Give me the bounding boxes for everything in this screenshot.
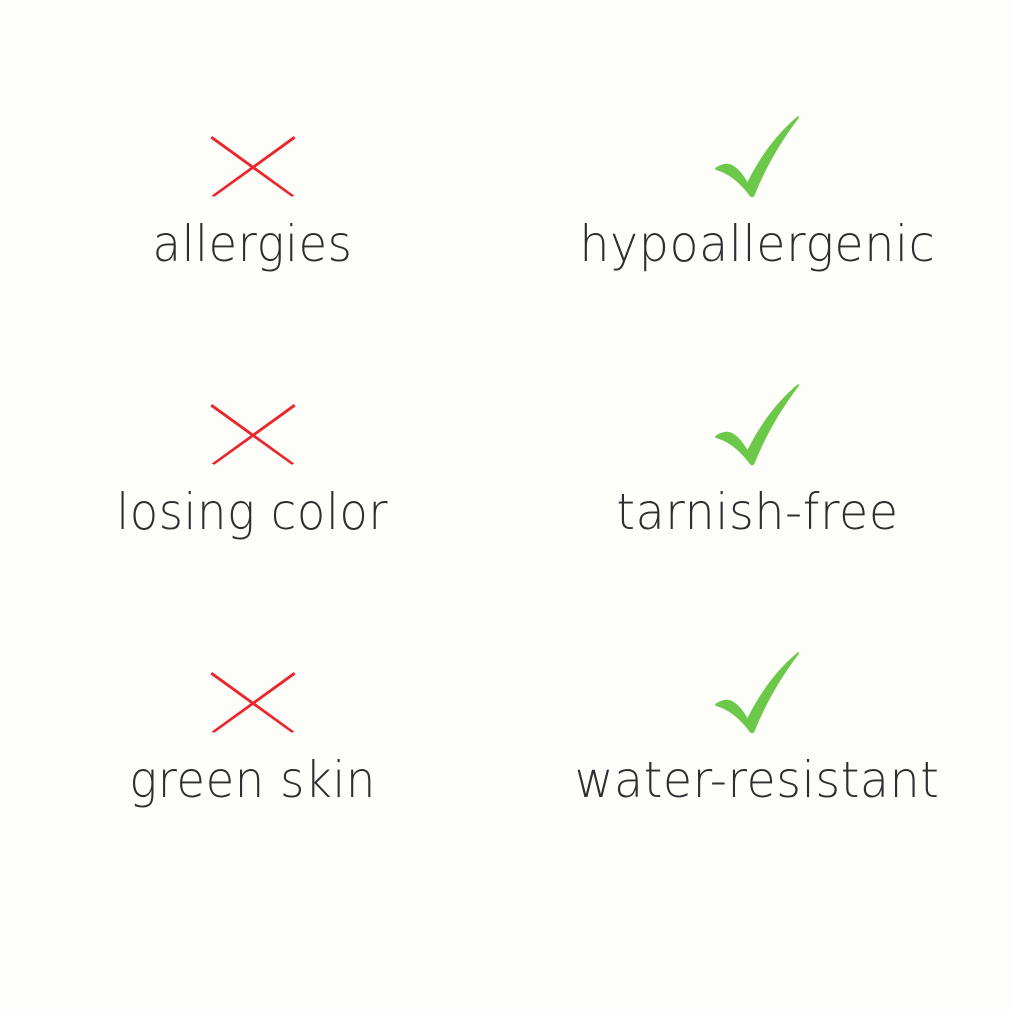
feature-label: water-resistant [575,754,940,807]
comparison-cell-negative: green skin [0,644,505,912]
comparison-cell-negative: allergies [0,108,505,376]
comparison-cell-positive: hypoallergenic [505,108,1010,376]
comparison-cell-positive: water-resistant [505,644,1010,912]
feature-comparison-board: allergies hypoallergenic losing color ta… [0,0,1010,1010]
cross-icon [193,376,313,466]
feature-label: losing color [117,486,389,539]
feature-label: hypoallergenic [580,218,936,271]
feature-label: green skin [129,754,376,807]
check-icon [698,376,818,466]
check-icon [698,644,818,734]
comparison-cell-positive: tarnish-free [505,376,1010,644]
feature-label: tarnish-free [616,486,898,539]
comparison-cell-negative: losing color [0,376,505,644]
feature-label: allergies [153,218,353,271]
cross-icon [193,108,313,198]
check-icon [698,108,818,198]
cross-icon [193,644,313,734]
